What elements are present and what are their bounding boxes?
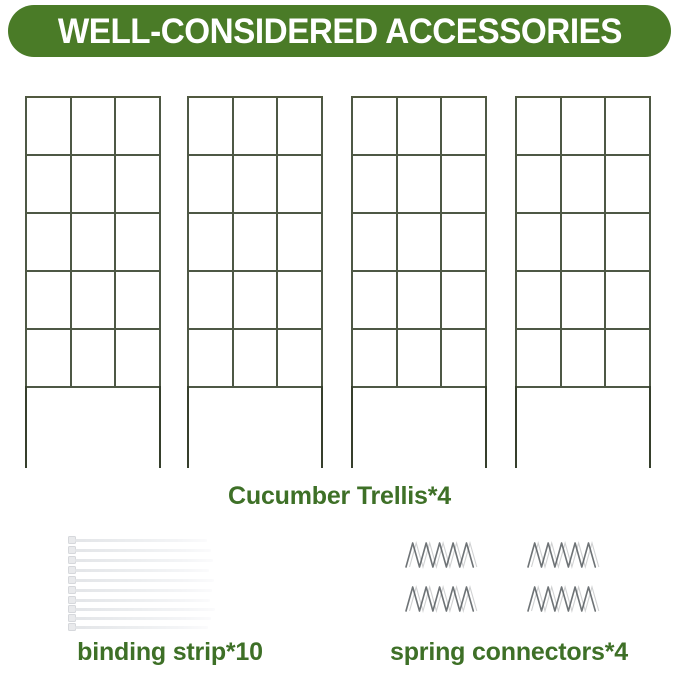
- trellis-mesh-row: [189, 156, 323, 214]
- binding-strip: [68, 536, 207, 544]
- trellis-mesh-row: [353, 330, 487, 388]
- trellis-mesh-cell: [72, 330, 117, 386]
- binding-strip-label: binding strip*10: [0, 640, 340, 665]
- trellis-mesh-row: [517, 156, 651, 214]
- trellis-mesh-cell: [517, 272, 562, 328]
- spring-connector: [404, 584, 482, 614]
- trellis-mesh-cell: [234, 272, 279, 328]
- trellis-mesh: [187, 96, 323, 388]
- spring-connector-group: [404, 540, 644, 630]
- trellis-mesh-cell: [189, 156, 234, 212]
- binding-strip: [68, 556, 213, 564]
- binding-strip-tail: [75, 569, 209, 572]
- trellis-mesh-cell: [27, 98, 72, 154]
- binding-strip-tail: [75, 589, 212, 592]
- trellis-mesh-cell: [189, 214, 234, 270]
- binding-strip: [68, 576, 214, 584]
- trellis-mesh-cell: [116, 98, 161, 154]
- trellis-mesh-cell: [562, 156, 607, 212]
- trellis-mesh-cell: [398, 156, 443, 212]
- trellis-mesh: [515, 96, 651, 388]
- spring-coil-icon: [404, 540, 482, 570]
- trellis-mesh-cell: [234, 98, 279, 154]
- trellis-mesh-cell: [353, 272, 398, 328]
- trellis-mesh-row: [27, 272, 161, 330]
- trellis-mesh-cell: [398, 330, 443, 386]
- trellis-leg: [159, 386, 161, 468]
- trellis-mesh-cell: [116, 156, 161, 212]
- trellis-mesh-cell: [606, 156, 651, 212]
- trellis-mesh-cell: [442, 330, 487, 386]
- trellis-mesh-row: [189, 214, 323, 272]
- trellis-mesh-cell: [278, 214, 323, 270]
- trellis-mesh-cell: [72, 272, 117, 328]
- trellis-mesh-cell: [278, 272, 323, 328]
- trellis-mesh-cell: [442, 272, 487, 328]
- trellis-mesh-row: [353, 156, 487, 214]
- binding-strip: [68, 605, 215, 613]
- trellis-mesh-cell: [606, 98, 651, 154]
- trellis-mesh-row: [189, 272, 323, 330]
- trellis-mesh-cell: [517, 330, 562, 386]
- trellis-mesh-cell: [72, 98, 117, 154]
- trellis-mesh-cell: [189, 98, 234, 154]
- trellis-mesh-cell: [116, 214, 161, 270]
- trellis-mesh: [351, 96, 487, 388]
- trellis-mesh-cell: [398, 214, 443, 270]
- trellis-mesh-cell: [116, 272, 161, 328]
- trellis-mesh-row: [353, 98, 487, 156]
- trellis-mesh-cell: [353, 214, 398, 270]
- trellis-mesh-cell: [606, 214, 651, 270]
- binding-strip: [68, 586, 212, 594]
- spring-connector: [526, 584, 604, 614]
- trellis-mesh-row: [353, 272, 487, 330]
- binding-strip-tail: [75, 626, 208, 629]
- binding-strip-tail: [75, 579, 214, 582]
- trellis-mesh-cell: [606, 330, 651, 386]
- trellis-mesh-cell: [27, 330, 72, 386]
- binding-strip-tail: [75, 549, 211, 552]
- spring-coil-icon: [526, 584, 604, 614]
- trellis-mesh-cell: [517, 156, 562, 212]
- trellis-mesh-row: [27, 214, 161, 272]
- trellis-mesh-cell: [278, 156, 323, 212]
- trellis-mesh: [25, 96, 161, 388]
- spring-coil-icon: [526, 540, 604, 570]
- binding-strip-tail: [75, 599, 210, 602]
- trellis-mesh-cell: [442, 156, 487, 212]
- trellis-mesh-cell: [278, 330, 323, 386]
- trellis-mesh-cell: [27, 272, 72, 328]
- binding-strip-group: [68, 536, 278, 628]
- trellis-mesh-cell: [562, 272, 607, 328]
- trellis-mesh-row: [189, 330, 323, 388]
- trellis-mesh-cell: [517, 98, 562, 154]
- trellis-leg: [485, 386, 487, 468]
- page-title: WELL-CONSIDERED ACCESSORIES: [57, 14, 621, 49]
- binding-strip: [68, 614, 211, 622]
- trellis-mesh-cell: [398, 98, 443, 154]
- spring-connector: [404, 540, 482, 570]
- trellis-leg: [25, 386, 27, 468]
- binding-strip-tail: [75, 617, 211, 620]
- trellis-leg: [187, 386, 189, 468]
- trellis-mesh-cell: [562, 330, 607, 386]
- binding-strip-tail: [75, 608, 215, 611]
- trellis-mesh-cell: [27, 156, 72, 212]
- trellis-mesh-cell: [278, 98, 323, 154]
- binding-strip: [68, 546, 211, 554]
- trellis-panel-group: [0, 90, 679, 475]
- trellis-mesh-cell: [353, 98, 398, 154]
- trellis-mesh-row: [27, 98, 161, 156]
- trellis-mesh-cell: [353, 330, 398, 386]
- trellis-leg: [649, 386, 651, 468]
- trellis-mesh-cell: [116, 330, 161, 386]
- binding-strip-tail: [75, 539, 207, 542]
- trellis-mesh-cell: [562, 98, 607, 154]
- binding-strip-tail: [75, 559, 213, 562]
- spring-coil-icon: [404, 584, 482, 614]
- trellis-mesh-row: [189, 98, 323, 156]
- trellis-label: Cucumber Trellis*4: [0, 484, 679, 509]
- trellis-leg: [351, 386, 353, 468]
- trellis-mesh-row: [517, 98, 651, 156]
- trellis-mesh-row: [27, 156, 161, 214]
- trellis-mesh-cell: [27, 214, 72, 270]
- trellis-mesh-row: [517, 272, 651, 330]
- trellis-mesh-row: [353, 214, 487, 272]
- trellis-leg: [321, 386, 323, 468]
- trellis-mesh-cell: [189, 272, 234, 328]
- trellis-mesh-cell: [398, 272, 443, 328]
- trellis-mesh-cell: [234, 214, 279, 270]
- trellis-mesh-cell: [72, 156, 117, 212]
- trellis-mesh-cell: [189, 330, 234, 386]
- trellis-mesh-cell: [72, 214, 117, 270]
- trellis-mesh-cell: [234, 330, 279, 386]
- binding-strip: [68, 566, 209, 574]
- header-banner: WELL-CONSIDERED ACCESSORIES: [8, 5, 671, 57]
- trellis-mesh-cell: [442, 214, 487, 270]
- trellis-mesh-row: [517, 330, 651, 388]
- trellis-mesh-cell: [234, 156, 279, 212]
- trellis-mesh-cell: [353, 156, 398, 212]
- trellis-mesh-cell: [606, 272, 651, 328]
- binding-strip: [68, 623, 208, 631]
- spring-connector-label: spring connectors*4: [339, 640, 679, 665]
- trellis-leg: [515, 386, 517, 468]
- trellis-mesh-cell: [517, 214, 562, 270]
- trellis-mesh-row: [517, 214, 651, 272]
- trellis-mesh-cell: [562, 214, 607, 270]
- binding-strip: [68, 596, 210, 604]
- trellis-mesh-row: [27, 330, 161, 388]
- trellis-mesh-cell: [442, 98, 487, 154]
- spring-connector: [526, 540, 604, 570]
